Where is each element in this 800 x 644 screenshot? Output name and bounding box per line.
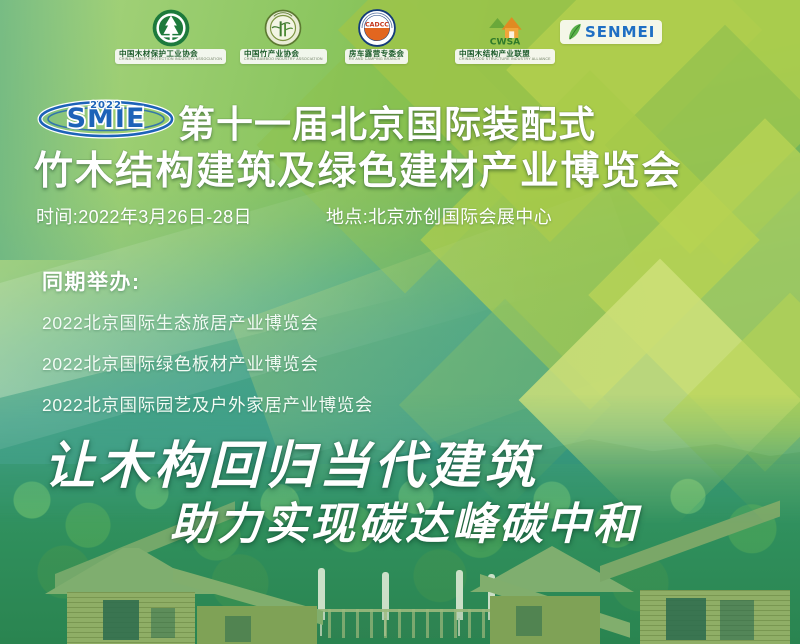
- slogan-line-2: 助力实现碳达峰碳中和: [170, 488, 640, 552]
- senmei-wordmark-text: SENMEI: [585, 23, 655, 41]
- leaf-icon: [567, 23, 582, 41]
- cwsa-house-logo-icon: CWSA: [485, 8, 525, 48]
- senmei-wordmark-logo: SENMEI: [560, 20, 662, 44]
- sponsor-name-en: CHINA TIMBER PROTECTION INDUSTRY ASSOCIA…: [119, 58, 222, 62]
- concurrent-event-item: 2022北京国际园艺及户外家居产业博览会: [42, 392, 373, 417]
- concurrent-events-block: 同期举办: 2022北京国际生态旅居产业博览会 2022北京国际绿色板材产业博览…: [42, 266, 373, 433]
- slogan-line-1: 让木构回归当代建筑: [44, 424, 539, 498]
- sponsor-logo-2: 中国竹产业协会 CHINA BAMBOO INDUSTRY ASSOCIATIO…: [240, 8, 327, 64]
- smie-logo-icon: SMIE 2022: [36, 94, 176, 140]
- sponsor-name-plate-1: 中国木材保护工业协会 CHINA TIMBER PROTECTION INDUS…: [115, 49, 226, 64]
- event-meta: 时间:2022年3月26日-28日 地点:北京亦创国际会展中心: [36, 203, 552, 229]
- svg-text:CWSA: CWSA: [490, 37, 521, 48]
- concurrent-event-item: 2022北京国际绿色板材产业博览会: [42, 351, 373, 376]
- concurrent-event-item: 2022北京国际生态旅居产业博览会: [42, 310, 373, 335]
- sponsor-logo-4: CWSA 中国木结构产业联盟 CHINA WOOD STRUCTURE INDU…: [455, 8, 555, 64]
- sponsor-name-plate-3: 房车露营专委会 RV AND CAMPING BRANCH: [345, 49, 408, 64]
- title-line-2: 竹木结构建筑及绿色建材产业博览会: [34, 140, 682, 196]
- sponsor-name-plate-4: 中国木结构产业联盟 CHINA WOOD STRUCTURE INDUSTRY …: [455, 49, 555, 64]
- svg-text:CADCC: CADCC: [365, 21, 389, 28]
- smie-logo: SMIE 2022: [36, 94, 176, 140]
- sponsor-name-en: RV AND CAMPING BRANCH: [349, 58, 404, 62]
- pine-tree-shield-logo-icon: [151, 8, 191, 48]
- event-venue: 地点:北京亦创国际会展中心: [326, 203, 552, 229]
- sponsor-logo-3: CADCC 房车露营专委会 RV AND CAMPING BRANCH: [345, 8, 408, 64]
- sponsor-logo-1: 中国木材保护工业协会 CHINA TIMBER PROTECTION INDUS…: [115, 8, 226, 64]
- bamboo-seal-logo-icon: [263, 8, 303, 48]
- sponsor-logo-bar: 中国木材保护工业协会 CHINA TIMBER PROTECTION INDUS…: [0, 0, 800, 75]
- smie-logo-year: 2022: [90, 100, 122, 111]
- sponsor-name-en: CHINA BAMBOO INDUSTRY ASSOCIATION: [244, 58, 323, 62]
- sponsor-name-plate-2: 中国竹产业协会 CHINA BAMBOO INDUSTRY ASSOCIATIO…: [240, 49, 327, 64]
- sponsor-name-en: CHINA WOOD STRUCTURE INDUSTRY ALLIANCE: [459, 58, 551, 62]
- expo-poster: 中国木材保护工业协会 CHINA TIMBER PROTECTION INDUS…: [0, 0, 800, 644]
- timber-cabin-left: [55, 544, 385, 644]
- concurrent-events-title: 同期举办:: [42, 266, 373, 296]
- timber-cabin-right: [480, 544, 800, 644]
- sponsor-logo-5: SENMEI: [560, 20, 662, 44]
- cadcc-roundel-logo-icon: CADCC: [357, 8, 397, 48]
- event-date: 时间:2022年3月26日-28日: [36, 203, 252, 229]
